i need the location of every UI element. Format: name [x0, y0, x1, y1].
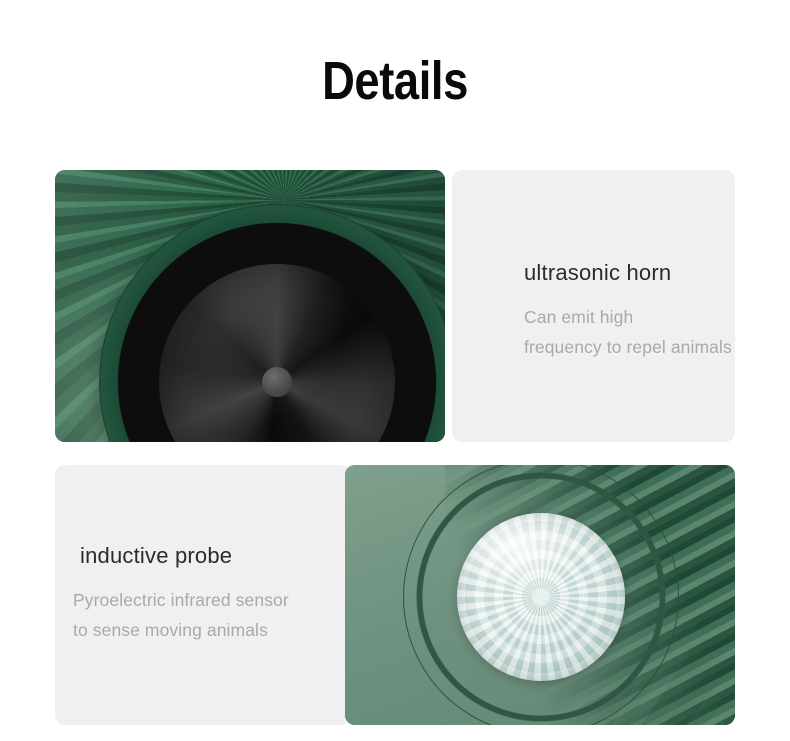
speaker-cone — [159, 264, 395, 442]
product-image-pir-sensor — [345, 465, 735, 725]
feature-description-line: to sense moving animals — [73, 615, 289, 645]
feature-description-line: frequency to repel animals — [524, 332, 732, 362]
feature-description-ultrasonic-horn: Can emit high frequency to repel animals — [524, 302, 732, 362]
dome-gloss-highlight — [457, 513, 625, 681]
page-title: Details — [63, 50, 727, 112]
speaker-cone-gloss — [159, 264, 395, 442]
feature-title-ultrasonic-horn: ultrasonic horn — [524, 260, 671, 286]
feature-title-inductive-probe: inductive probe — [80, 543, 232, 569]
pir-fresnel-dome — [457, 513, 625, 681]
feature-description-inductive-probe: Pyroelectric infrared sensor to sense mo… — [73, 585, 289, 645]
feature-row-inductive-probe: inductive probe Pyroelectric infrared se… — [55, 465, 735, 725]
product-image-ultrasonic-speaker — [55, 170, 445, 442]
feature-text-panel-ultrasonic-horn: ultrasonic horn Can emit high frequency … — [452, 170, 735, 442]
feature-text-panel-inductive-probe: inductive probe Pyroelectric infrared se… — [55, 465, 351, 725]
feature-description-line: Can emit high — [524, 302, 732, 332]
sensor-concentric-rings — [403, 465, 679, 725]
feature-row-ultrasonic-horn: ultrasonic horn Can emit high frequency … — [55, 170, 735, 442]
speaker-dust-cap — [262, 367, 292, 397]
feature-description-line: Pyroelectric infrared sensor — [73, 585, 289, 615]
